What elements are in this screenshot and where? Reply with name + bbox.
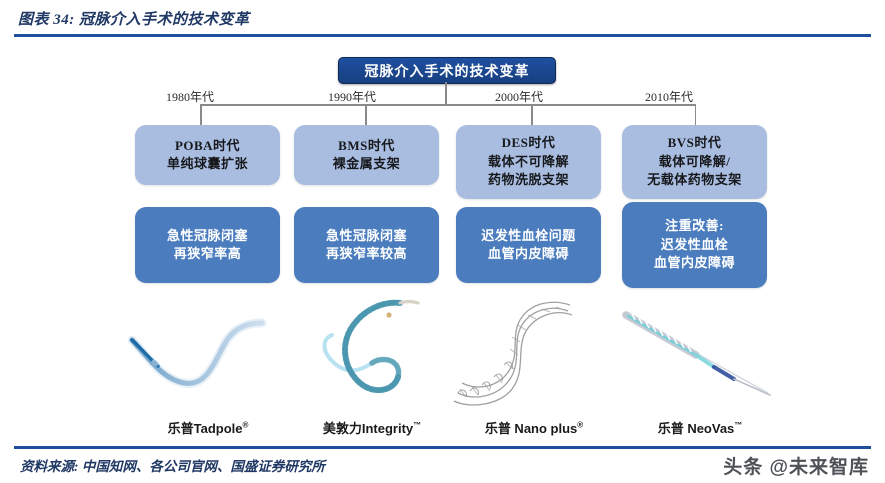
product-label-nano-plus: 乐普 Nano plus® <box>444 418 624 437</box>
connector-drop-1 <box>200 104 202 125</box>
stage-line: 药物洗脱支架 <box>488 171 569 189</box>
stage-line: BMS时代 <box>338 137 395 155</box>
figure-canvas: 图表 34: 冠脉介入手术的技术变革 冠脉介入手术的技术变革 1980年代 19… <box>0 0 885 483</box>
issue-line: 再狭窄率高 <box>174 245 242 263</box>
issue-line: 急性冠脉闭塞 <box>167 227 248 245</box>
stage-box-bms: BMS时代 裸金属支架 <box>294 125 439 185</box>
trademark-mark: ® <box>577 421 583 430</box>
bioresorbable-scaffold-image <box>618 297 778 407</box>
issue-line: 迟发性血栓 <box>661 236 729 254</box>
product-name: 乐普 Nano plus <box>485 421 577 436</box>
issue-box-bvs: 注重改善: 迟发性血栓 血管内皮障碍 <box>622 202 767 288</box>
mesh-stent-image <box>452 297 612 407</box>
stage-line: DES时代 <box>502 134 556 152</box>
issue-line: 血管内皮障碍 <box>654 254 735 272</box>
product-label-integrity: 美敦力Integrity™ <box>282 418 462 437</box>
issue-box-bms: 急性冠脉闭塞 再狭窄率较高 <box>294 207 439 283</box>
stage-line: 载体不可降解 <box>488 153 569 171</box>
diagram-banner: 冠脉介入手术的技术变革 <box>338 57 556 84</box>
balloon-catheter-image <box>128 297 288 407</box>
product-name: 乐普 NeoVas <box>658 421 735 436</box>
stage-line: 单纯球囊扩张 <box>167 155 248 173</box>
connector-drop-2 <box>365 104 367 125</box>
issue-box-des: 迟发性血栓问题 血管内皮障碍 <box>456 207 601 283</box>
product-label-tadpole: 乐普Tadpole® <box>118 418 298 437</box>
stage-line: POBA时代 <box>175 137 240 155</box>
stage-line: 无载体药物支架 <box>647 171 742 189</box>
product-name: 美敦力Integrity <box>323 421 413 436</box>
issue-line: 迟发性血栓问题 <box>481 227 576 245</box>
stage-box-des: DES时代 载体不可降解 药物洗脱支架 <box>456 125 601 199</box>
issue-line: 再狭窄率较高 <box>326 245 407 263</box>
coiled-stent-image <box>288 297 448 407</box>
source-note: 资料来源: 中国知网、各公司官网、国盛证券研究所 <box>20 455 325 475</box>
issue-line: 血管内皮障碍 <box>488 245 569 263</box>
stage-box-bvs: BVS时代 载体可降解/ 无载体药物支架 <box>622 125 767 199</box>
stage-line: 载体可降解/ <box>659 153 731 171</box>
issue-box-poba: 急性冠脉闭塞 再狭窄率高 <box>135 207 280 283</box>
trademark-mark: ™ <box>734 421 742 430</box>
watermark: 头条 @未来智库 <box>723 452 869 479</box>
trademark-mark: ™ <box>413 421 421 430</box>
bottom-divider <box>14 446 871 449</box>
top-divider <box>14 34 871 37</box>
stage-box-poba: POBA时代 单纯球囊扩张 <box>135 125 280 185</box>
era-label-1990s: 1990年代 <box>328 88 376 105</box>
page-title: 图表 34: 冠脉介入手术的技术变革 <box>18 8 250 29</box>
era-label-1980s: 1980年代 <box>166 88 214 105</box>
stage-line: 裸金属支架 <box>333 155 401 173</box>
trademark-mark: ® <box>242 421 248 430</box>
connector-drop-4 <box>695 104 697 125</box>
connector-horizontal-bar <box>200 104 696 106</box>
product-label-neovas: 乐普 NeoVas™ <box>610 418 790 437</box>
issue-line: 急性冠脉闭塞 <box>326 227 407 245</box>
connector-stem <box>445 82 447 104</box>
era-label-2000s: 2000年代 <box>495 88 543 105</box>
product-name: 乐普Tadpole <box>168 421 243 436</box>
stage-line: BVS时代 <box>668 134 722 152</box>
issue-line: 注重改善: <box>665 217 724 235</box>
era-label-2010s: 2010年代 <box>645 88 693 105</box>
connector-drop-3 <box>531 104 533 125</box>
